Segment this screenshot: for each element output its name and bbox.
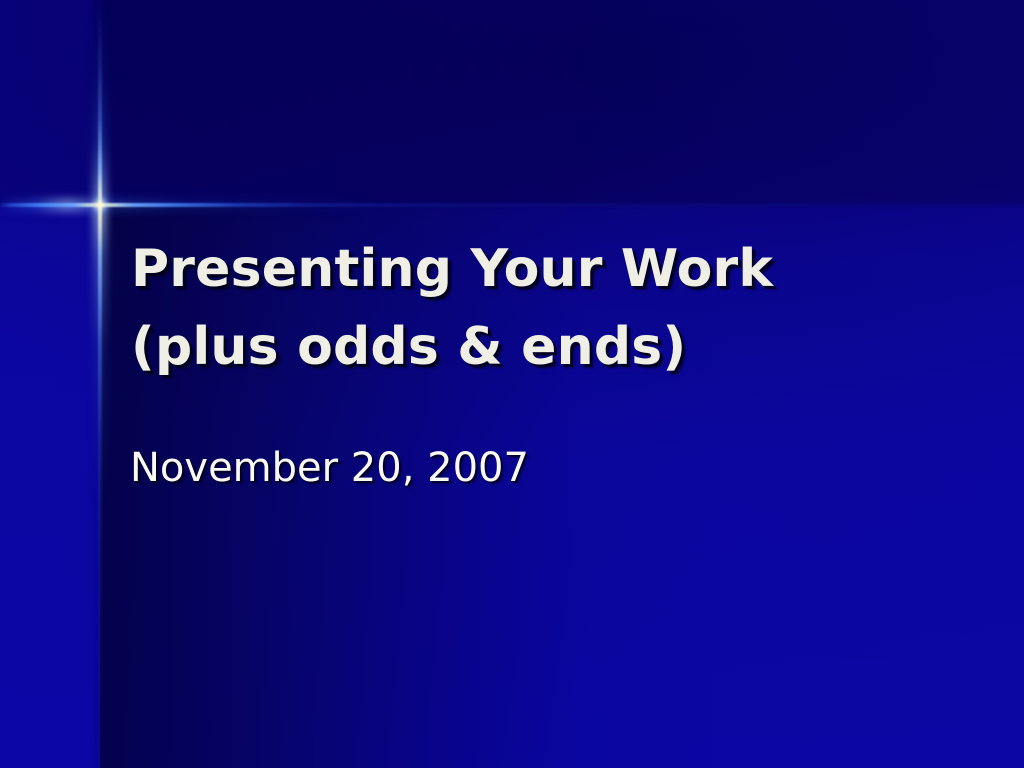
- presentation-slide: Presenting Your Work (plus odds & ends) …: [0, 0, 1024, 768]
- slide-subtitle-date: November 20, 2007: [130, 443, 960, 493]
- slide-title: Presenting Your Work (plus odds & ends): [131, 230, 961, 386]
- slide-text-layer: Presenting Your Work (plus odds & ends) …: [0, 0, 1024, 768]
